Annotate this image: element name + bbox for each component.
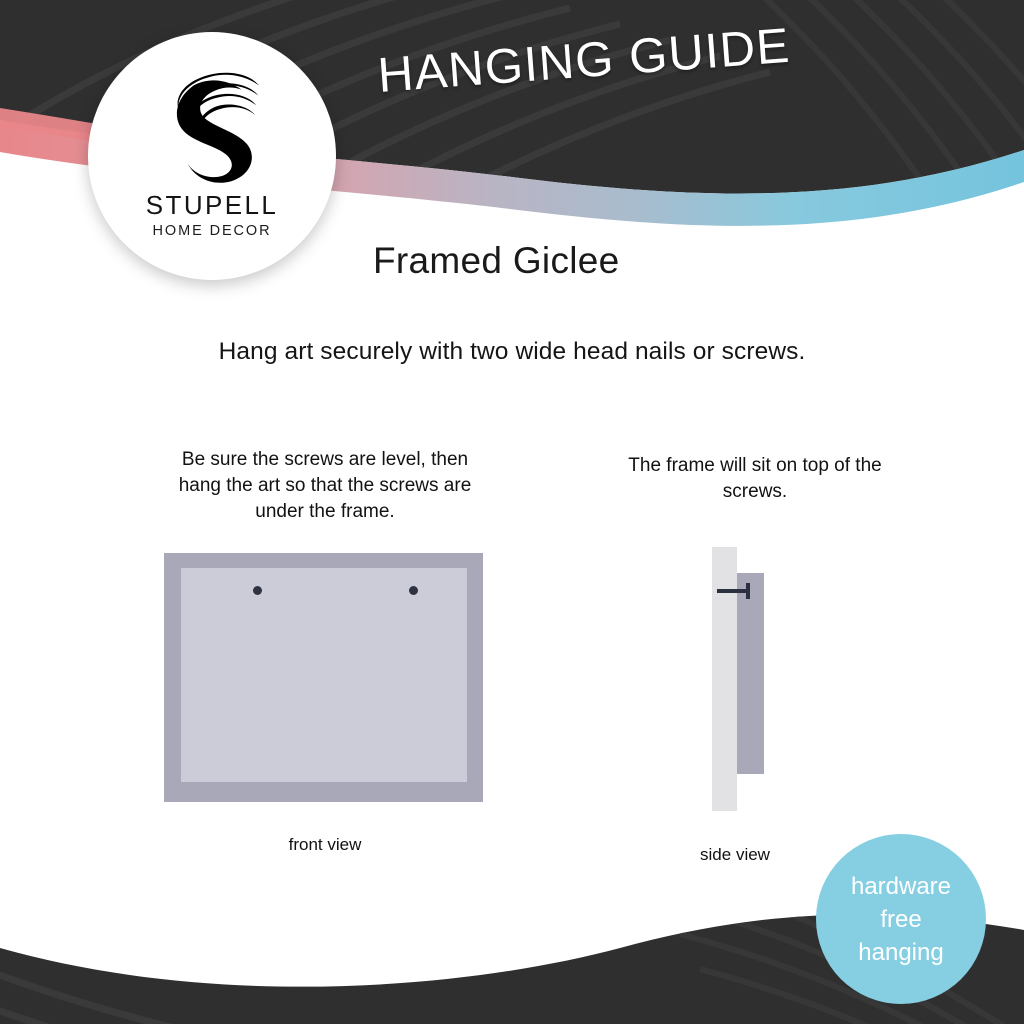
side-view-wall: [712, 547, 737, 811]
nail-shaft-icon: [717, 589, 749, 593]
product-type-heading: Framed Giclee: [373, 240, 620, 282]
logo-subwordmark: HOME DECOR: [153, 223, 272, 239]
stupell-s-swoosh-icon: [153, 66, 271, 186]
nail-head-icon: [746, 583, 750, 599]
badge-line-2: free: [880, 903, 921, 936]
screw-dot-right: [409, 586, 418, 595]
badge-line-1: hardware: [851, 870, 951, 903]
side-view-caption: The frame will sit on top of the screws.: [610, 453, 900, 505]
side-view-frame: [737, 573, 764, 774]
brand-logo-badge: STUPELL HOME DECOR: [88, 32, 336, 280]
hanging-guide-page: HANGING GUIDE STUPELL HOME DECOR Framed …: [0, 0, 1024, 1024]
side-view-label: side view: [630, 845, 840, 865]
front-view-caption: Be sure the screws are level, then hang …: [160, 447, 490, 525]
badge-line-3: hanging: [858, 936, 943, 969]
front-view-frame-diagram: [164, 553, 483, 802]
front-view-label: front view: [165, 835, 485, 855]
logo-wordmark: STUPELL: [146, 190, 278, 221]
screw-dot-left: [253, 586, 262, 595]
main-instruction-text: Hang art securely with two wide head nai…: [0, 338, 1024, 366]
hardware-free-hanging-badge: hardware free hanging: [816, 834, 986, 1004]
front-view-mat: [181, 568, 467, 782]
page-title: HANGING GUIDE: [376, 10, 899, 104]
